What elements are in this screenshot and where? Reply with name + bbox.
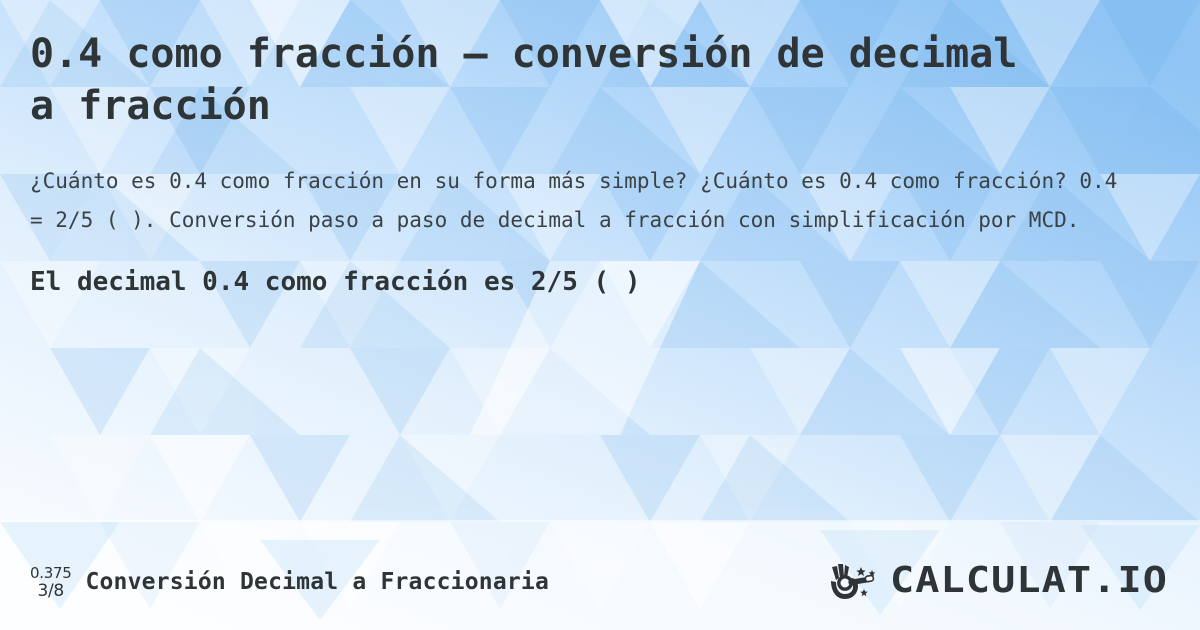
fraction-conversion-icon: 0.375 3/8: [30, 564, 71, 600]
brand-name-text: CALCULAT.IO: [890, 562, 1168, 601]
fraction-icon-decimal: 0.375: [30, 566, 71, 581]
page-description: ¿Cuánto es 0.4 como fracción en su forma…: [30, 132, 1120, 240]
footer-label: Conversión Decimal a Fraccionaria: [85, 569, 549, 595]
answer-statement: El decimal 0.4 como fracción es 2/5 ( ): [30, 240, 1170, 299]
footer-bar: 0.375 3/8 Conversión Decimal a Fracciona…: [0, 534, 1200, 630]
brand-wordmark: CALCULAT.IO CALCULAT.IO: [890, 562, 1170, 602]
brand-logo[interactable]: CALCULAT.IO CALCULAT.IO: [828, 561, 1170, 603]
footer-left-group: 0.375 3/8 Conversión Decimal a Fracciona…: [30, 564, 549, 600]
page-title: 0.4 como fracción – conversión de decima…: [30, 28, 1030, 132]
hand-magic-wand-icon: [828, 561, 884, 603]
fraction-icon-fraction: 3/8: [37, 583, 63, 600]
